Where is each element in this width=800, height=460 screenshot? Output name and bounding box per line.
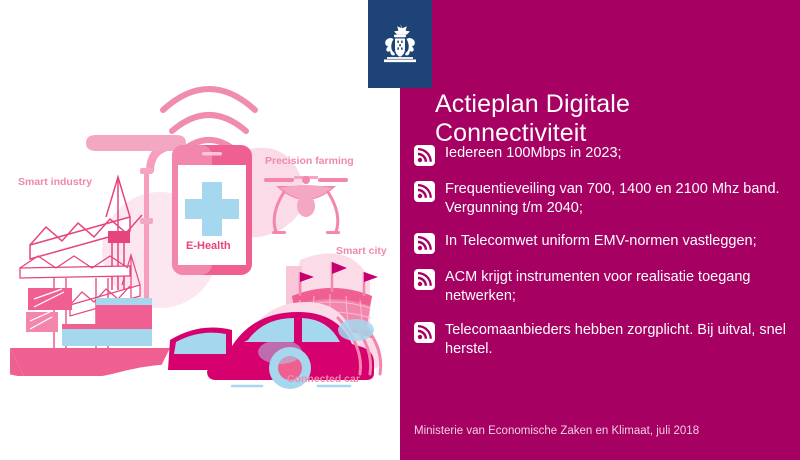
bullet-item: Frequentieveiling van 700, 1400 en 2100 … [414, 180, 794, 218]
page-title: Actieplan Digitale Connectiviteit [435, 90, 785, 148]
illustration-graphic [0, 0, 400, 460]
rss-icon [414, 145, 435, 166]
bullet-text: ACM krijgt instrumenten voor realisatie … [445, 268, 794, 306]
label-connected-car: Connected car [287, 373, 360, 385]
bullet-text: Iedereen 100Mbps in 2023; [445, 144, 622, 163]
slide-canvas: Smart industry Precision farming Smart c… [0, 0, 800, 460]
content-panel: Actieplan Digitale Connectiviteit Iedere… [400, 0, 800, 460]
bullet-text: Telecomaanbieders hebben zorgplicht. Bij… [445, 321, 794, 359]
label-ehealth: E-Health [186, 240, 231, 252]
label-precision-farming: Precision farming [265, 155, 354, 167]
rss-icon [414, 269, 435, 290]
bullet-text: Frequentieveiling van 700, 1400 en 2100 … [445, 180, 794, 218]
footer-text: Ministerie van Economische Zaken en Klim… [414, 425, 699, 437]
rss-icon [414, 322, 435, 343]
bullet-item: Iedereen 100Mbps in 2023; [414, 144, 794, 166]
rss-icon [414, 233, 435, 254]
smartphone-ehealth [172, 145, 252, 275]
rijksoverheid-logo [368, 0, 432, 88]
label-smart-industry: Smart industry [18, 176, 92, 188]
label-smart-city: Smart city [336, 245, 387, 257]
bullet-item: ACM krijgt instrumenten voor realisatie … [414, 268, 794, 306]
bullet-list: Iedereen 100Mbps in 2023;Frequentieveili… [414, 144, 794, 373]
bullet-text: In Telecomwet uniform EMV-normen vastleg… [445, 232, 757, 251]
coat-of-arms-icon [378, 22, 422, 66]
illustration: Smart industry Precision farming Smart c… [0, 0, 400, 460]
rss-icon [414, 181, 435, 202]
bullet-item: In Telecomwet uniform EMV-normen vastleg… [414, 232, 794, 254]
bullet-item: Telecomaanbieders hebben zorgplicht. Bij… [414, 321, 794, 359]
